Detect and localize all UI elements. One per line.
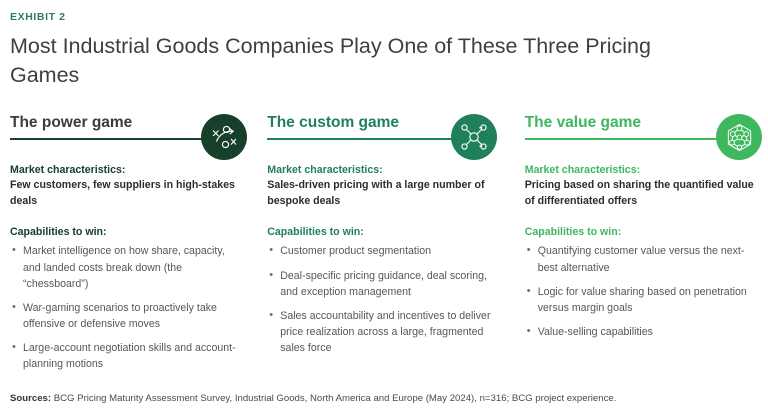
capabilities-label: Capabilities to win: (525, 226, 754, 238)
capabilities-list: Quantifying customer value versus the ne… (525, 243, 754, 339)
column-header: The custom game (267, 114, 490, 162)
list-item: Deal-specific pricing guidance, deal sco… (267, 268, 490, 300)
capabilities-label: Capabilities to win: (10, 226, 241, 238)
capabilities-label: Capabilities to win: (267, 226, 490, 238)
sources-label: Sources: (10, 393, 51, 404)
page-title: Most Industrial Goods Companies Play One… (10, 32, 700, 89)
column-rule-wrap (267, 138, 490, 162)
market-characteristics-label: Market characteristics: (525, 164, 754, 176)
exhibit-page: EXHIBIT 2 Most Industrial Goods Companie… (0, 0, 768, 418)
column-header: The power game (10, 114, 241, 162)
column-custom-game: The custom game (259, 114, 508, 380)
list-item: War-gaming scenarios to proactively take… (10, 300, 241, 332)
sources-footnote: Sources: BCG Pricing Maturity Assessment… (10, 392, 616, 405)
list-item: Market intelligence on how share, capaci… (10, 243, 241, 291)
list-item: Large-account negotiation skills and acc… (10, 340, 241, 372)
market-characteristics-body: Few customers, few suppliers in high-sta… (10, 177, 241, 209)
capabilities-list: Market intelligence on how share, capaci… (10, 243, 241, 372)
list-item: Quantifying customer value versus the ne… (525, 243, 754, 275)
column-value-game: The value game (509, 114, 758, 380)
columns-container: The power game Marke (10, 114, 758, 380)
market-characteristics-body: Pricing based on sharing the quantified … (525, 177, 754, 209)
column-rule-wrap (525, 138, 754, 162)
list-item: Sales accountability and incentives to d… (267, 308, 490, 356)
column-power-game: The power game Marke (10, 114, 259, 380)
capabilities-list: Customer product segmentation Deal-speci… (267, 243, 490, 356)
list-item: Value-selling capabilities (525, 324, 754, 340)
column-rule-wrap (10, 138, 241, 162)
hexagon-lattice-icon (716, 114, 762, 160)
exhibit-label: EXHIBIT 2 (10, 0, 758, 23)
column-header: The value game (525, 114, 754, 162)
chessboard-playbook-icon (201, 114, 247, 160)
market-characteristics-label: Market characteristics: (10, 164, 241, 176)
list-item: Customer product segmentation (267, 243, 490, 259)
market-characteristics-label: Market characteristics: (267, 164, 490, 176)
network-nodes-icon (451, 114, 497, 160)
list-item: Logic for value sharing based on penetra… (525, 284, 754, 316)
market-characteristics-body: Sales-driven pricing with a large number… (267, 177, 490, 209)
sources-text: BCG Pricing Maturity Assessment Survey, … (51, 393, 616, 404)
